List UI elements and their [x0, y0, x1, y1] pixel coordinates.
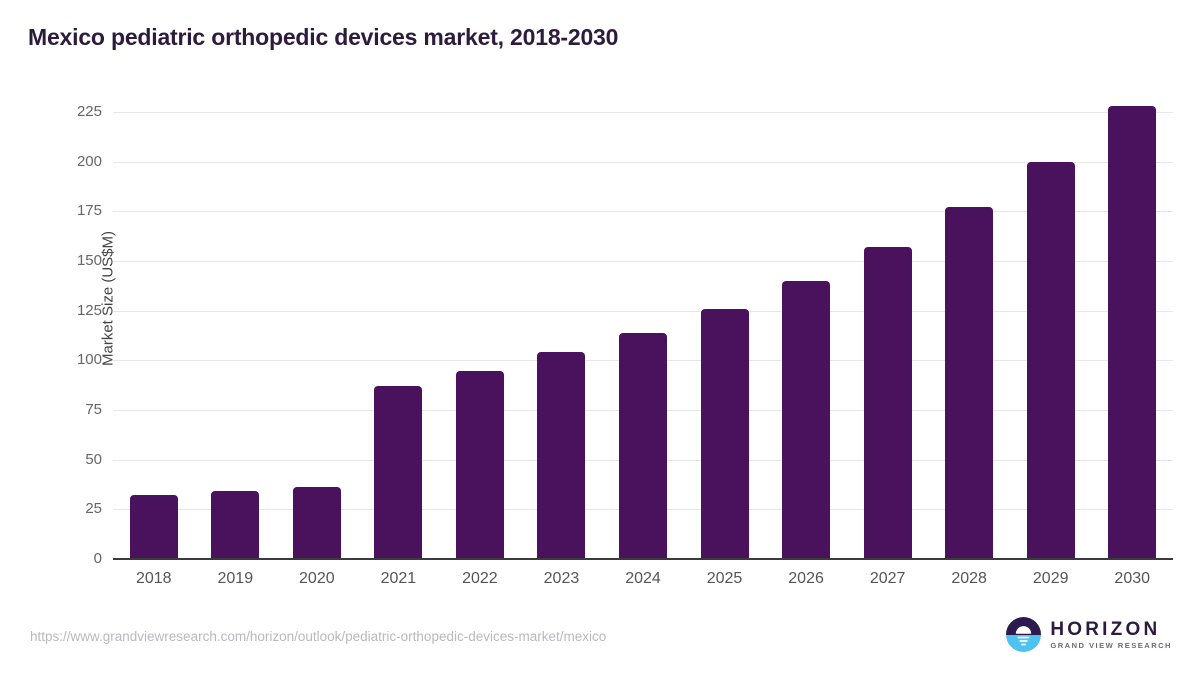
bar-column[interactable] — [864, 112, 912, 559]
x-axis-tick-label: 2023 — [521, 568, 603, 590]
x-axis-tick-label: 2018 — [113, 568, 195, 590]
bar-column[interactable] — [701, 112, 749, 559]
bar-column[interactable] — [1108, 112, 1156, 559]
y-axis-tick-label: 100 — [42, 352, 102, 367]
y-axis-tick-label: 50 — [42, 452, 102, 467]
y-axis-tick-label: 150 — [42, 253, 102, 268]
y-axis-tick-label: 225 — [42, 104, 102, 119]
bar[interactable] — [1108, 106, 1156, 559]
bar-column[interactable] — [293, 112, 341, 559]
bar[interactable] — [864, 247, 912, 559]
y-axis-tick-labels: 0255075100125150175200225 — [40, 112, 102, 559]
bar[interactable] — [374, 386, 422, 559]
bar-column[interactable] — [1027, 112, 1075, 559]
x-axis-tick-label: 2022 — [439, 568, 521, 590]
bar-column[interactable] — [211, 112, 259, 559]
x-axis-tick-label: 2020 — [276, 568, 358, 590]
x-axis-tick-label: 2026 — [765, 568, 847, 590]
x-axis-tick-label: 2021 — [358, 568, 440, 590]
y-axis-tick-label: 200 — [42, 154, 102, 169]
bar[interactable] — [782, 281, 830, 559]
bar[interactable] — [293, 487, 341, 559]
bar-column[interactable] — [945, 112, 993, 559]
bar[interactable] — [619, 333, 667, 559]
horizon-sun-circle-icon — [1006, 617, 1041, 652]
brand-logo: HORIZON GRAND VIEW RESEARCH — [1006, 617, 1172, 652]
x-axis-line — [113, 558, 1173, 560]
x-axis-tick-label: 2019 — [195, 568, 277, 590]
chart-page: Mexico pediatric orthopedic devices mark… — [0, 0, 1200, 675]
bar-column[interactable] — [374, 112, 422, 559]
bar[interactable] — [701, 309, 749, 559]
bar[interactable] — [456, 371, 504, 559]
logo-wordmark: HORIZON — [1050, 620, 1172, 639]
bar[interactable] — [945, 207, 993, 559]
y-axis-tick-label: 125 — [42, 303, 102, 318]
x-axis-tick-label: 2030 — [1091, 568, 1173, 590]
bar-column[interactable] — [456, 112, 504, 559]
bar-column[interactable] — [782, 112, 830, 559]
bar[interactable] — [211, 491, 259, 559]
source-url[interactable]: https://www.grandviewresearch.com/horizo… — [30, 629, 606, 644]
x-axis-tick-label: 2025 — [684, 568, 766, 590]
x-axis-tick-label: 2027 — [847, 568, 929, 590]
y-axis-tick-label: 25 — [42, 501, 102, 516]
page-title: Mexico pediatric orthopedic devices mark… — [28, 24, 618, 51]
bar[interactable] — [537, 352, 585, 559]
x-axis-tick-label: 2029 — [1010, 568, 1092, 590]
x-axis-tick-label: 2024 — [602, 568, 684, 590]
bar-column[interactable] — [537, 112, 585, 559]
bar[interactable] — [130, 495, 178, 559]
logo-tagline: GRAND VIEW RESEARCH — [1050, 642, 1172, 650]
y-axis-tick-label: 75 — [42, 402, 102, 417]
y-axis-tick-label: 175 — [42, 203, 102, 218]
logo-text: HORIZON GRAND VIEW RESEARCH — [1050, 620, 1172, 650]
plot-area — [113, 112, 1173, 559]
x-axis-tick-label: 2028 — [928, 568, 1010, 590]
bar-column[interactable] — [619, 112, 667, 559]
x-axis-tick-labels: 2018201920202021202220232024202520262027… — [113, 568, 1173, 598]
y-axis-tick-label: 0 — [42, 551, 102, 566]
bar-column[interactable] — [130, 112, 178, 559]
bar[interactable] — [1027, 162, 1075, 559]
